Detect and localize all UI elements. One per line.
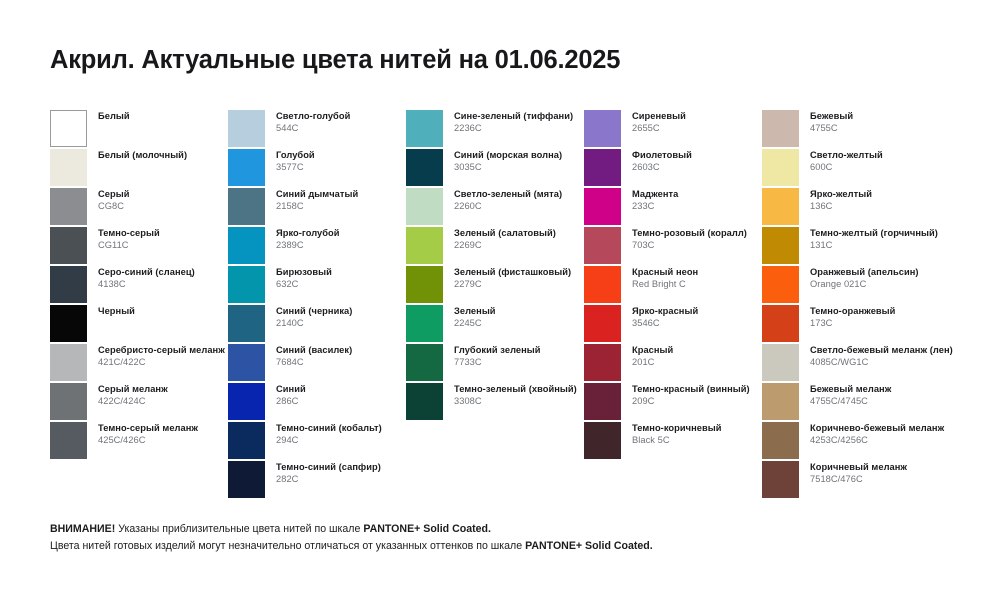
swatch-row[interactable]: Синий (василек)7684C: [228, 344, 406, 383]
swatch-text: Ярко-красный3546C: [632, 305, 762, 328]
swatch-name: Белый: [98, 111, 228, 121]
color-swatch[interactable]: [762, 305, 799, 342]
color-swatch[interactable]: [228, 344, 265, 381]
swatch-row[interactable]: Синий286C: [228, 383, 406, 422]
swatch-name: Темно-серый меланж: [98, 423, 228, 433]
swatch-name: Голубой: [276, 150, 406, 160]
color-swatch[interactable]: [584, 227, 621, 264]
swatch-name: Красный: [632, 345, 762, 355]
color-swatch[interactable]: [50, 422, 87, 459]
footer-line-1-text: Указаны приблизительные цвета нитей по ш…: [115, 523, 363, 535]
swatch-row[interactable]: Светло-желтый600C: [762, 149, 962, 188]
swatch-pantone-code: 421C/422C: [98, 357, 228, 367]
swatch-row[interactable]: Оранжевый (апельсин)Orange 021C: [762, 266, 962, 305]
swatch-pantone-code: 3546C: [632, 318, 762, 328]
swatch-text: Коричнево-бежевый меланж4253C/4256C: [810, 422, 962, 445]
swatch-pantone-code: 2655C: [632, 123, 762, 133]
swatch-name: Светло-бежевый меланж (лен): [810, 345, 962, 355]
color-swatch[interactable]: [584, 344, 621, 381]
swatch-pantone-code: 3308C: [454, 396, 584, 406]
swatch-name: Серебристо-серый меланж: [98, 345, 228, 355]
color-swatch[interactable]: [50, 149, 87, 186]
swatch-row[interactable]: Серо-синий (сланец)4138C: [50, 266, 228, 305]
swatch-name: Бежевый: [810, 111, 962, 121]
color-swatch[interactable]: [50, 227, 87, 264]
swatch-name: Синий: [276, 384, 406, 394]
swatch-text: Синий дымчатый2158C: [276, 188, 406, 211]
color-column-purples-reds: Сиреневый2655CФиолетовый2603CМаджента233…: [584, 110, 762, 461]
swatch-name: Темно-желтый (горчичный): [810, 228, 962, 238]
swatch-pantone-code: 422C/424C: [98, 396, 228, 406]
swatch-text: Зеленый2245C: [454, 305, 584, 328]
swatch-text: Светло-желтый600C: [810, 149, 962, 172]
swatch-pantone-code: Red Bright C: [632, 279, 762, 289]
swatch-pantone-code: 4138C: [98, 279, 228, 289]
swatch-row[interactable]: Темно-синий (сапфир)282C: [228, 461, 406, 500]
color-swatch[interactable]: [228, 188, 265, 225]
swatch-row[interactable]: Темно-синий (кобальт)294C: [228, 422, 406, 461]
swatch-text: Зеленый (фисташковый)2279C: [454, 266, 584, 289]
swatch-text: Темно-желтый (горчичный)131C: [810, 227, 962, 250]
swatch-row[interactable]: Светло-зеленый (мята)2260C: [406, 188, 584, 227]
swatch-row[interactable]: Синий (морская волна)3035C: [406, 149, 584, 188]
swatch-text: Темно-оранжевый173C: [810, 305, 962, 328]
swatch-row[interactable]: Белый: [50, 110, 228, 149]
swatch-row[interactable]: Ярко-красный3546C: [584, 305, 762, 344]
swatch-row[interactable]: СерыйCG8C: [50, 188, 228, 227]
swatch-text: Ярко-желтый136C: [810, 188, 962, 211]
swatch-name: Белый (молочный): [98, 150, 228, 160]
swatch-pantone-code: 2389C: [276, 240, 406, 250]
swatch-pantone-code: 4755C/4745C: [810, 396, 962, 406]
swatch-row[interactable]: Бежевый4755C: [762, 110, 962, 149]
swatch-text: СерыйCG8C: [98, 188, 228, 211]
color-swatch[interactable]: [584, 149, 621, 186]
swatch-name: Синий (морская волна): [454, 150, 584, 160]
swatch-row[interactable]: Сине-зеленый (тиффани)2236C: [406, 110, 584, 149]
swatch-text: Темно-коричневыйBlack 5C: [632, 422, 762, 445]
swatch-text: Темно-синий (сапфир)282C: [276, 461, 406, 484]
color-swatch[interactable]: [406, 227, 443, 264]
swatch-name: Темно-серый: [98, 228, 228, 238]
swatch-row[interactable]: Темно-розовый (коралл)703C: [584, 227, 762, 266]
swatch-pantone-code: 201C: [632, 357, 762, 367]
swatch-pantone-code: 703C: [632, 240, 762, 250]
swatch-row[interactable]: Фиолетовый2603C: [584, 149, 762, 188]
swatch-name: Зеленый (салатовый): [454, 228, 584, 238]
swatch-pantone-code: 3577C: [276, 162, 406, 172]
swatch-text: Синий (морская волна)3035C: [454, 149, 584, 172]
swatch-pantone-code: 425C/426C: [98, 435, 228, 445]
swatch-row[interactable]: Темно-оранжевый173C: [762, 305, 962, 344]
swatch-text: Серый меланж422C/424C: [98, 383, 228, 406]
swatch-row[interactable]: Бежевый меланж4755C/4745C: [762, 383, 962, 422]
swatch-name: Коричнево-бежевый меланж: [810, 423, 962, 433]
page-title: Акрил. Актуальные цвета нитей на 01.06.2…: [50, 46, 620, 75]
swatch-name: Темно-красный (винный): [632, 384, 762, 394]
color-swatch[interactable]: [406, 110, 443, 147]
swatch-row[interactable]: Зеленый2245C: [406, 305, 584, 344]
color-column-blues: Светло-голубой544CГолубой3577CСиний дымч…: [228, 110, 406, 500]
swatch-pantone-code: 2140C: [276, 318, 406, 328]
color-swatch[interactable]: [50, 266, 87, 303]
swatch-row[interactable]: Синий (черника)2140C: [228, 305, 406, 344]
color-swatch[interactable]: [50, 305, 87, 342]
swatch-text: Белый: [98, 110, 228, 121]
swatch-row[interactable]: Синий дымчатый2158C: [228, 188, 406, 227]
swatch-text: Голубой3577C: [276, 149, 406, 172]
swatch-pantone-code: 3035C: [454, 162, 584, 172]
swatch-text: Зеленый (салатовый)2269C: [454, 227, 584, 250]
color-swatch-grid: БелыйБелый (молочный)СерыйCG8CТемно-серы…: [50, 110, 970, 500]
swatch-pantone-code: 2260C: [454, 201, 584, 211]
swatch-row[interactable]: Коричнево-бежевый меланж4253C/4256C: [762, 422, 962, 461]
swatch-row[interactable]: Зеленый (салатовый)2269C: [406, 227, 584, 266]
color-swatch[interactable]: [584, 383, 621, 420]
color-column-beiges-browns: Бежевый4755CСветло-желтый600CЯрко-желтый…: [762, 110, 962, 500]
color-swatch[interactable]: [406, 344, 443, 381]
swatch-pantone-code: 4253C/4256C: [810, 435, 962, 445]
footer-note: ВНИМАНИЕ! Указаны приблизительные цвета …: [50, 521, 950, 556]
swatch-text: Красный201C: [632, 344, 762, 367]
swatch-name: Маджента: [632, 189, 762, 199]
swatch-row[interactable]: Голубой3577C: [228, 149, 406, 188]
swatch-pantone-code: 2236C: [454, 123, 584, 133]
swatch-name: Светло-голубой: [276, 111, 406, 121]
swatch-name: Синий дымчатый: [276, 189, 406, 199]
swatch-row[interactable]: Темно-серый меланж425C/426C: [50, 422, 228, 461]
swatch-pantone-code: Orange 021C: [810, 279, 962, 289]
swatch-text: Ярко-голубой2389C: [276, 227, 406, 250]
footer-brand-1: PANTONE+ Solid Coated.: [363, 523, 491, 535]
swatch-text: Темно-синий (кобальт)294C: [276, 422, 406, 445]
swatch-row[interactable]: Сиреневый2655C: [584, 110, 762, 149]
swatch-row[interactable]: Маджента233C: [584, 188, 762, 227]
color-swatch[interactable]: [228, 227, 265, 264]
swatch-row[interactable]: Глубокий зеленый7733C: [406, 344, 584, 383]
swatch-pantone-code: 136C: [810, 201, 962, 211]
swatch-pantone-code: 7733C: [454, 357, 584, 367]
swatch-pantone-code: 233C: [632, 201, 762, 211]
swatch-name: Сине-зеленый (тиффани): [454, 111, 584, 121]
color-swatch[interactable]: [50, 110, 87, 147]
swatch-name: Темно-синий (кобальт): [276, 423, 406, 433]
swatch-name: Ярко-желтый: [810, 189, 962, 199]
color-swatch[interactable]: [584, 110, 621, 147]
color-swatch[interactable]: [584, 188, 621, 225]
swatch-pantone-code: 282C: [276, 474, 406, 484]
swatch-text: Темно-серый меланж425C/426C: [98, 422, 228, 445]
color-swatch[interactable]: [762, 227, 799, 264]
color-swatch[interactable]: [762, 461, 799, 498]
swatch-row[interactable]: Темно-красный (винный)209C: [584, 383, 762, 422]
swatch-text: Темно-розовый (коралл)703C: [632, 227, 762, 250]
color-chart-page: Акрил. Актуальные цвета нитей на 01.06.2…: [0, 0, 1000, 609]
swatch-pantone-code: 2158C: [276, 201, 406, 211]
color-swatch[interactable]: [228, 305, 265, 342]
swatch-name: Ярко-красный: [632, 306, 762, 316]
swatch-name: Серый меланж: [98, 384, 228, 394]
swatch-name: Темно-оранжевый: [810, 306, 962, 316]
swatch-pantone-code: 2279C: [454, 279, 584, 289]
swatch-row[interactable]: Белый (молочный): [50, 149, 228, 188]
swatch-pantone-code: 286C: [276, 396, 406, 406]
swatch-name: Глубокий зеленый: [454, 345, 584, 355]
swatch-text: Бежевый4755C: [810, 110, 962, 133]
footer-brand-2: PANTONE+ Solid Coated.: [525, 540, 653, 552]
swatch-pantone-code: 600C: [810, 162, 962, 172]
color-swatch[interactable]: [762, 266, 799, 303]
swatch-pantone-code: 294C: [276, 435, 406, 445]
color-swatch[interactable]: [762, 110, 799, 147]
swatch-name: Коричневый меланж: [810, 462, 962, 472]
color-swatch[interactable]: [228, 383, 265, 420]
swatch-name: Оранжевый (апельсин): [810, 267, 962, 277]
color-swatch[interactable]: [50, 344, 87, 381]
swatch-row[interactable]: Темно-коричневыйBlack 5C: [584, 422, 762, 461]
color-swatch[interactable]: [762, 383, 799, 420]
swatch-name: Темно-коричневый: [632, 423, 762, 433]
swatch-row[interactable]: Темно-желтый (горчичный)131C: [762, 227, 962, 266]
swatch-row[interactable]: Светло-голубой544C: [228, 110, 406, 149]
swatch-text: Сине-зеленый (тиффани)2236C: [454, 110, 584, 133]
swatch-text: Бирюзовый632C: [276, 266, 406, 289]
swatch-pantone-code: 7684C: [276, 357, 406, 367]
swatch-pantone-code: 173C: [810, 318, 962, 328]
color-swatch[interactable]: [406, 305, 443, 342]
swatch-text: Светло-зеленый (мята)2260C: [454, 188, 584, 211]
color-swatch[interactable]: [406, 149, 443, 186]
footer-line-1: ВНИМАНИЕ! Указаны приблизительные цвета …: [50, 521, 950, 538]
swatch-name: Темно-зеленый (хвойный): [454, 384, 584, 394]
swatch-text: Фиолетовый2603C: [632, 149, 762, 172]
swatch-name: Синий (черника): [276, 306, 406, 316]
swatch-text: Черный: [98, 305, 228, 316]
footer-line-2: Цвета нитей готовых изделий могут незнач…: [50, 538, 950, 555]
color-swatch[interactable]: [228, 266, 265, 303]
swatch-row[interactable]: Ярко-голубой2389C: [228, 227, 406, 266]
swatch-pantone-code: 4755C: [810, 123, 962, 133]
swatch-name: Серый: [98, 189, 228, 199]
swatch-name: Бежевый меланж: [810, 384, 962, 394]
swatch-text: Коричневый меланж7518C/476C: [810, 461, 962, 484]
swatch-name: Серо-синий (сланец): [98, 267, 228, 277]
swatch-pantone-code: CG8C: [98, 201, 228, 211]
swatch-text: Серо-синий (сланец)4138C: [98, 266, 228, 289]
color-swatch[interactable]: [228, 422, 265, 459]
swatch-name: Зеленый (фисташковый): [454, 267, 584, 277]
color-swatch[interactable]: [762, 149, 799, 186]
swatch-pantone-code: 131C: [810, 240, 962, 250]
footer-line-2-text: Цвета нитей готовых изделий могут незнач…: [50, 540, 525, 552]
color-swatch[interactable]: [762, 344, 799, 381]
swatch-row[interactable]: Светло-бежевый меланж (лен)4085C/WG1C: [762, 344, 962, 383]
swatch-text: Белый (молочный): [98, 149, 228, 160]
swatch-text: Сиреневый2655C: [632, 110, 762, 133]
swatch-text: Серебристо-серый меланж421C/422C: [98, 344, 228, 367]
color-swatch[interactable]: [228, 461, 265, 498]
swatch-text: Красный неонRed Bright C: [632, 266, 762, 289]
swatch-pantone-code: Black 5C: [632, 435, 762, 445]
swatch-row[interactable]: Серебристо-серый меланж421C/422C: [50, 344, 228, 383]
color-swatch[interactable]: [406, 383, 443, 420]
swatch-row[interactable]: Бирюзовый632C: [228, 266, 406, 305]
swatch-text: Маджента233C: [632, 188, 762, 211]
swatch-name: Темно-синий (сапфир): [276, 462, 406, 472]
color-swatch[interactable]: [228, 149, 265, 186]
swatch-row[interactable]: Красный неонRed Bright C: [584, 266, 762, 305]
swatch-text: Светло-бежевый меланж (лен)4085C/WG1C: [810, 344, 962, 367]
swatch-name: Синий (василек): [276, 345, 406, 355]
swatch-text: Темно-серыйCG11C: [98, 227, 228, 250]
swatch-pantone-code: 2269C: [454, 240, 584, 250]
color-swatch[interactable]: [584, 305, 621, 342]
swatch-row[interactable]: Красный201C: [584, 344, 762, 383]
swatch-name: Зеленый: [454, 306, 584, 316]
swatch-pantone-code: 4085C/WG1C: [810, 357, 962, 367]
swatch-name: Бирюзовый: [276, 267, 406, 277]
swatch-text: Синий (василек)7684C: [276, 344, 406, 367]
color-swatch[interactable]: [584, 266, 621, 303]
swatch-text: Темно-зеленый (хвойный)3308C: [454, 383, 584, 406]
swatch-name: Сиреневый: [632, 111, 762, 121]
color-swatch[interactable]: [406, 266, 443, 303]
swatch-row[interactable]: Черный: [50, 305, 228, 344]
swatch-pantone-code: 209C: [632, 396, 762, 406]
color-swatch[interactable]: [762, 188, 799, 225]
swatch-text: Синий286C: [276, 383, 406, 406]
swatch-name: Ярко-голубой: [276, 228, 406, 238]
color-swatch[interactable]: [50, 383, 87, 420]
swatch-pantone-code: 2245C: [454, 318, 584, 328]
swatch-pantone-code: 7518C/476C: [810, 474, 962, 484]
color-swatch[interactable]: [762, 422, 799, 459]
swatch-row[interactable]: Темно-серыйCG11C: [50, 227, 228, 266]
swatch-row[interactable]: Серый меланж422C/424C: [50, 383, 228, 422]
color-swatch[interactable]: [584, 422, 621, 459]
swatch-row[interactable]: Темно-зеленый (хвойный)3308C: [406, 383, 584, 422]
swatch-name: Красный неон: [632, 267, 762, 277]
color-swatch[interactable]: [50, 188, 87, 225]
swatch-name: Фиолетовый: [632, 150, 762, 160]
footer-attention-label: ВНИМАНИЕ!: [50, 523, 115, 535]
color-swatch[interactable]: [406, 188, 443, 225]
swatch-row[interactable]: Зеленый (фисташковый)2279C: [406, 266, 584, 305]
swatch-name: Светло-зеленый (мята): [454, 189, 584, 199]
swatch-text: Темно-красный (винный)209C: [632, 383, 762, 406]
color-column-neutrals: БелыйБелый (молочный)СерыйCG8CТемно-серы…: [50, 110, 228, 461]
swatch-row[interactable]: Ярко-желтый136C: [762, 188, 962, 227]
swatch-pantone-code: 632C: [276, 279, 406, 289]
swatch-pantone-code: 2603C: [632, 162, 762, 172]
swatch-text: Оранжевый (апельсин)Orange 021C: [810, 266, 962, 289]
swatch-text: Бежевый меланж4755C/4745C: [810, 383, 962, 406]
swatch-pantone-code: CG11C: [98, 240, 228, 250]
color-column-greens: Сине-зеленый (тиффани)2236CСиний (морска…: [406, 110, 584, 422]
swatch-pantone-code: 544C: [276, 123, 406, 133]
swatch-row[interactable]: Коричневый меланж7518C/476C: [762, 461, 962, 500]
color-swatch[interactable]: [228, 110, 265, 147]
swatch-text: Светло-голубой544C: [276, 110, 406, 133]
swatch-text: Синий (черника)2140C: [276, 305, 406, 328]
swatch-name: Светло-желтый: [810, 150, 962, 160]
swatch-name: Черный: [98, 306, 228, 316]
swatch-name: Темно-розовый (коралл): [632, 228, 762, 238]
swatch-text: Глубокий зеленый7733C: [454, 344, 584, 367]
